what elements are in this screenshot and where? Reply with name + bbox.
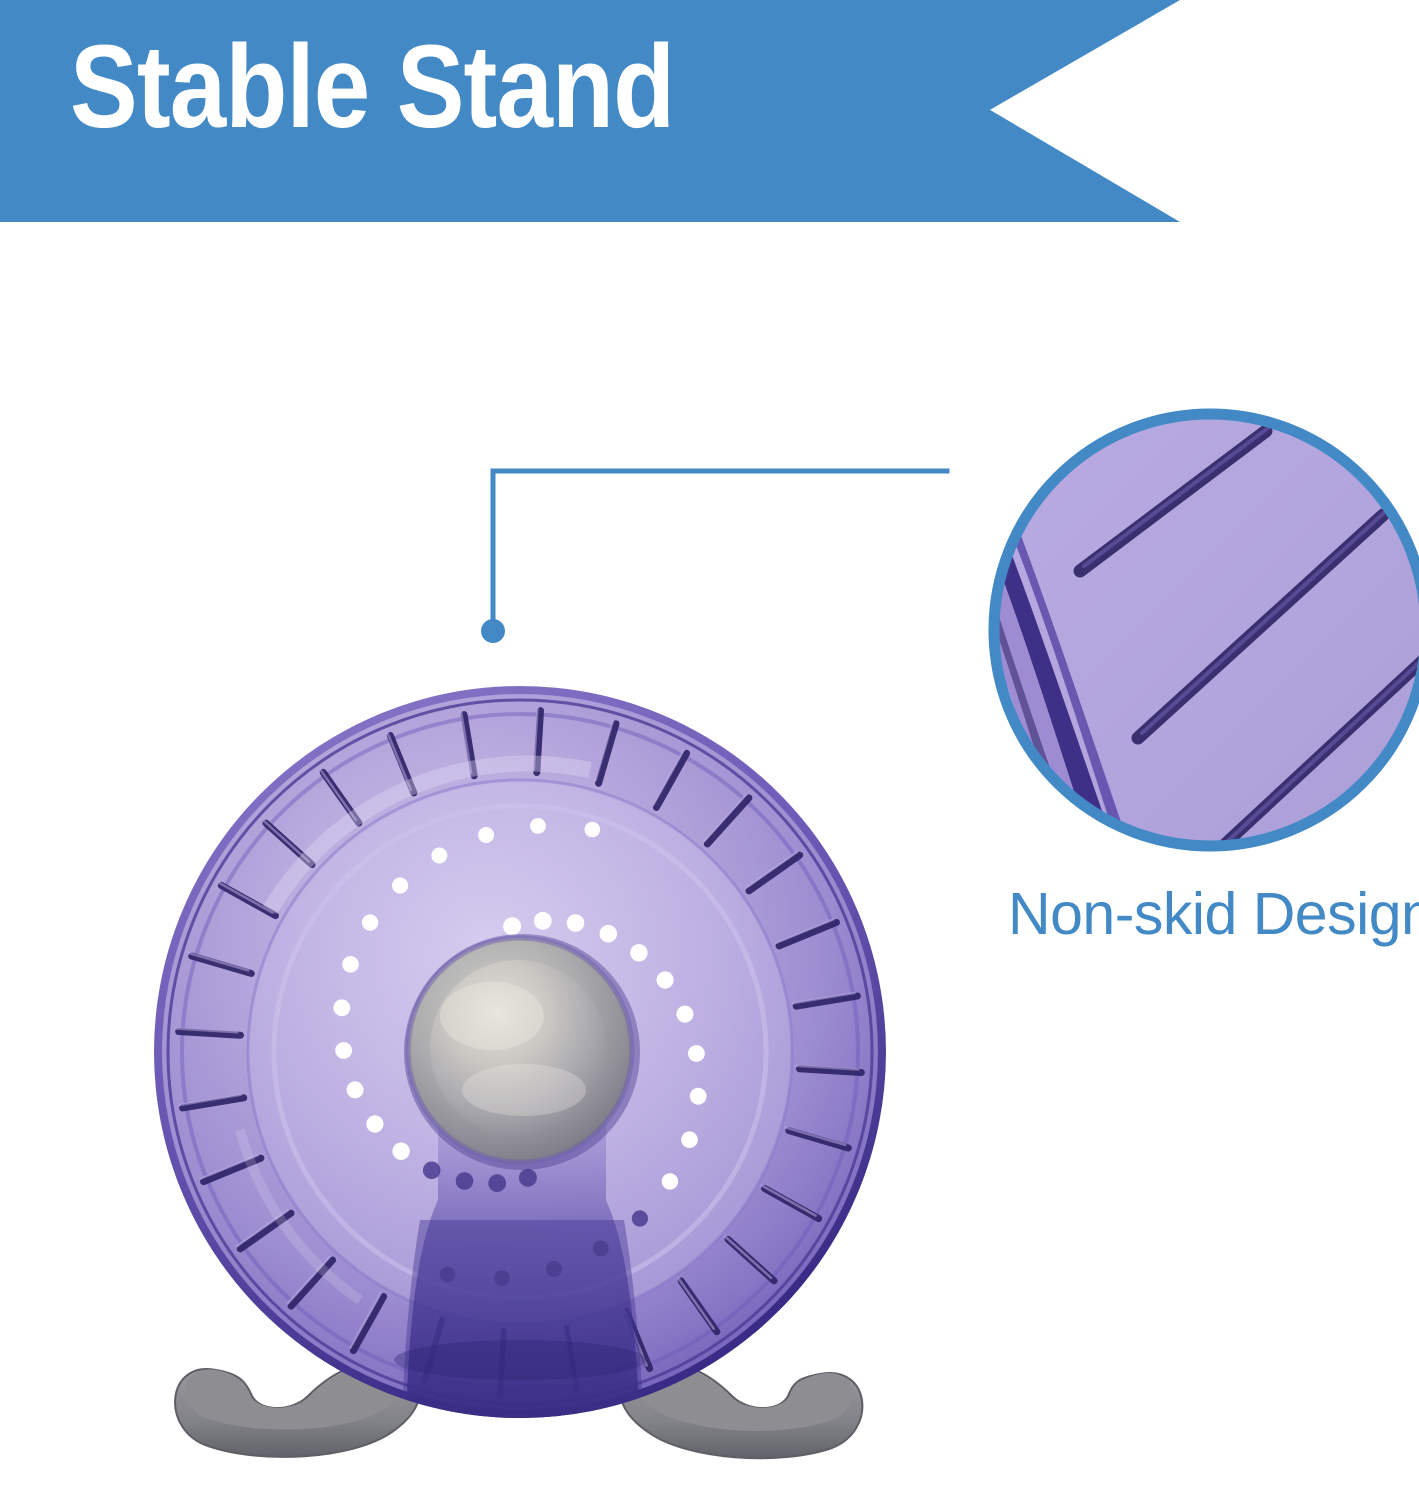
callout-line: [493, 471, 947, 622]
banner-title: Stable Stand: [70, 28, 674, 146]
leader-dot-icon: [481, 619, 505, 643]
wheel-disc: [154, 686, 886, 1422]
exercise-wheel-illustration: [120, 660, 920, 1460]
wheel-hub: [404, 934, 640, 1170]
inset-caption: Non-skid Design: [1008, 880, 1419, 948]
product-feature-image: Stable Stand: [0, 0, 1419, 1500]
callout-leader: [470, 450, 970, 660]
magnifier-inset: [983, 403, 1419, 857]
